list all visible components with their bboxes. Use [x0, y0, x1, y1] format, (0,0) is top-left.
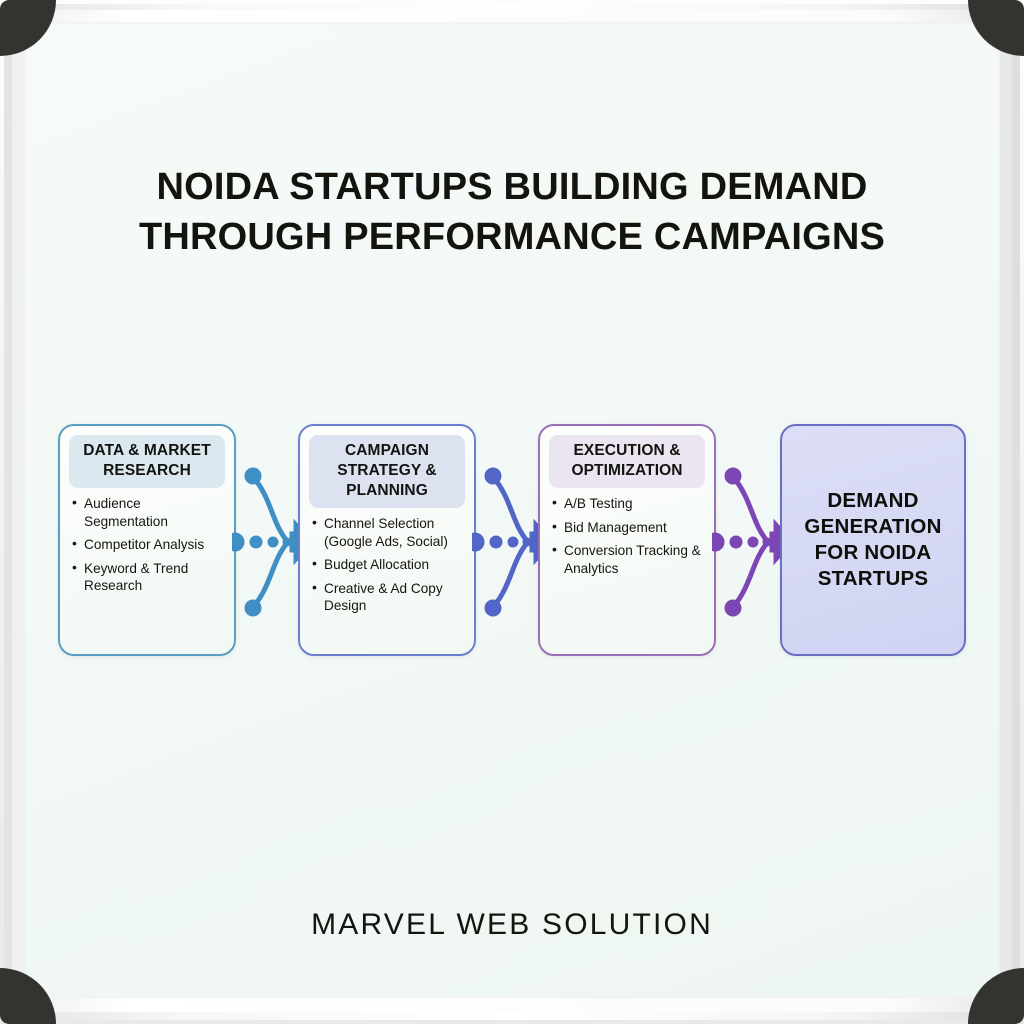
- list-item: Conversion Tracking & Analytics: [552, 542, 706, 577]
- list-item: Creative & Ad Copy Design: [312, 580, 466, 615]
- stage-heading-2: CAMPAIGN STRATEGY & PLANNING: [309, 435, 465, 508]
- list-item: Budget Allocation: [312, 556, 466, 574]
- list-item: Channel Selection (Google Ads, Social): [312, 515, 466, 550]
- flow-stage-data-market-research[interactable]: DATA & MARKET RESEARCH Audience Segmenta…: [58, 424, 236, 656]
- process-flow: DATA & MARKET RESEARCH Audience Segmenta…: [0, 424, 1024, 658]
- flow-stage-execution-optimization[interactable]: EXECUTION & OPTIMIZATION A/B Testing Bid…: [538, 424, 716, 656]
- stage-item-list-1: Audience Segmentation Competitor Analysi…: [60, 495, 234, 595]
- brand-footer: MARVEL WEB SOLUTION: [0, 908, 1024, 942]
- list-item: A/B Testing: [552, 495, 706, 513]
- flow-stage-campaign-strategy-planning[interactable]: CAMPAIGN STRATEGY & PLANNING Channel Sel…: [298, 424, 476, 656]
- page-title: NOIDA STARTUPS BUILDING DEMAND THROUGH P…: [80, 162, 944, 262]
- list-item: Bid Management: [552, 519, 706, 537]
- stage-heading-3: EXECUTION & OPTIMIZATION: [549, 435, 705, 488]
- stage-item-list-2: Channel Selection (Google Ads, Social) B…: [300, 515, 474, 615]
- stage-item-list-3: A/B Testing Bid Management Conversion Tr…: [540, 495, 714, 577]
- list-item: Audience Segmentation: [72, 495, 226, 530]
- outcome-label: DEMAND GENERATION FOR NOIDA STARTUPS: [782, 488, 964, 592]
- flow-outcome-demand-generation[interactable]: DEMAND GENERATION FOR NOIDA STARTUPS: [780, 424, 966, 656]
- stage-heading-1: DATA & MARKET RESEARCH: [69, 435, 225, 488]
- page-title-line-1: NOIDA STARTUPS BUILDING DEMAND: [80, 162, 944, 212]
- list-item: Competitor Analysis: [72, 536, 226, 554]
- list-item: Keyword & Trend Research: [72, 560, 226, 595]
- page-title-line-2: THROUGH PERFORMANCE CAMPAIGNS: [80, 212, 944, 262]
- whiteboard-diagram: NOIDA STARTUPS BUILDING DEMAND THROUGH P…: [0, 0, 1024, 1024]
